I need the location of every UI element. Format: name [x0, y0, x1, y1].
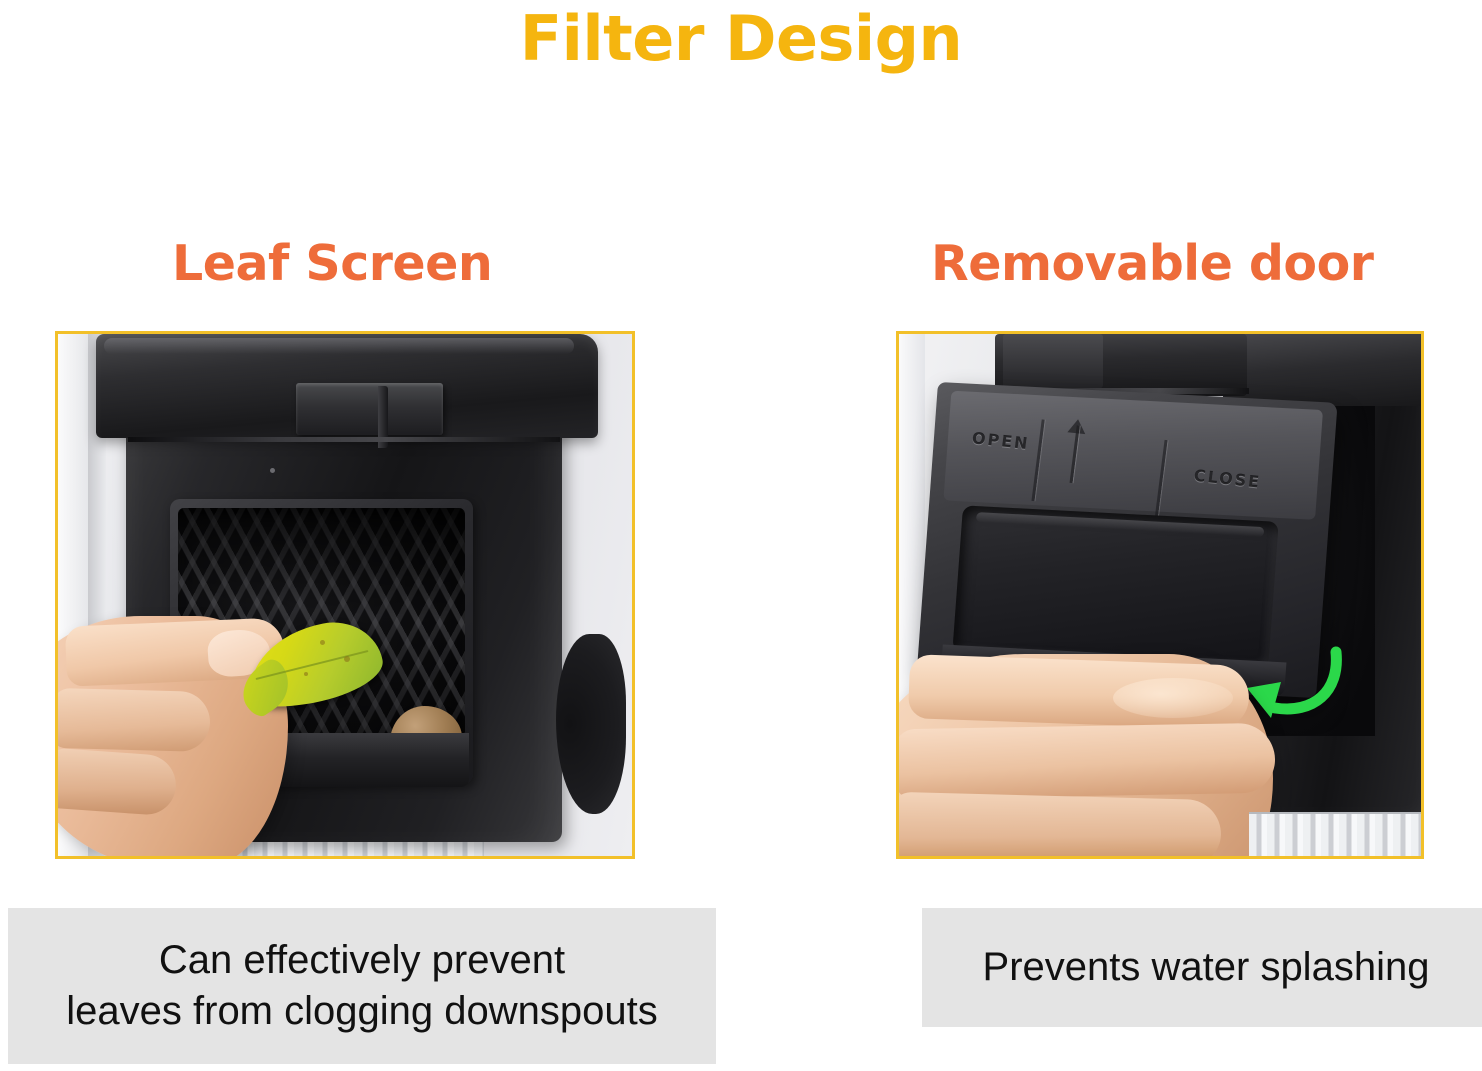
section-heading-removable-door: Removable door — [931, 235, 1373, 292]
page-title: Filter Design — [0, 2, 1482, 75]
housing-top-cap — [1223, 334, 1421, 406]
section-heading-leaf-screen: Leaf Screen — [172, 235, 492, 292]
middle-finger — [899, 723, 1276, 800]
caption-text-removable-door: Prevents water splashing — [983, 942, 1430, 993]
ring-finger — [899, 792, 1222, 856]
cap-highlight — [104, 338, 574, 354]
photo-leaf-screen-content — [58, 334, 632, 856]
leaf-spot — [344, 656, 350, 662]
downspout-pipe — [1249, 812, 1421, 856]
photo-leaf-screen — [55, 331, 635, 859]
screw-dot — [270, 468, 275, 473]
photo-removable-door-content: OPEN CLOSE — [899, 334, 1421, 856]
knuckle-highlight — [1113, 678, 1233, 718]
infographic-page: Filter Design Leaf Screen — [0, 0, 1482, 1071]
leaf-spot — [320, 640, 325, 645]
door-upper-face — [943, 391, 1323, 520]
housing-collar-tab — [1003, 334, 1103, 388]
leaf-spot — [304, 672, 308, 676]
caption-band-removable-door: Prevents water splashing — [922, 908, 1482, 1027]
latch-tab — [296, 383, 443, 435]
caption-band-leaf-screen: Can effectively prevent leaves from clog… — [8, 908, 716, 1064]
housing-seam — [128, 437, 560, 442]
housing-side-shadow — [556, 634, 626, 814]
photo-removable-door: OPEN CLOSE — [896, 331, 1424, 859]
caption-text-leaf-screen: Can effectively prevent leaves from clog… — [66, 935, 657, 1037]
ring-finger — [58, 748, 178, 817]
middle-finger — [58, 688, 211, 752]
removable-door: OPEN CLOSE — [916, 382, 1337, 698]
